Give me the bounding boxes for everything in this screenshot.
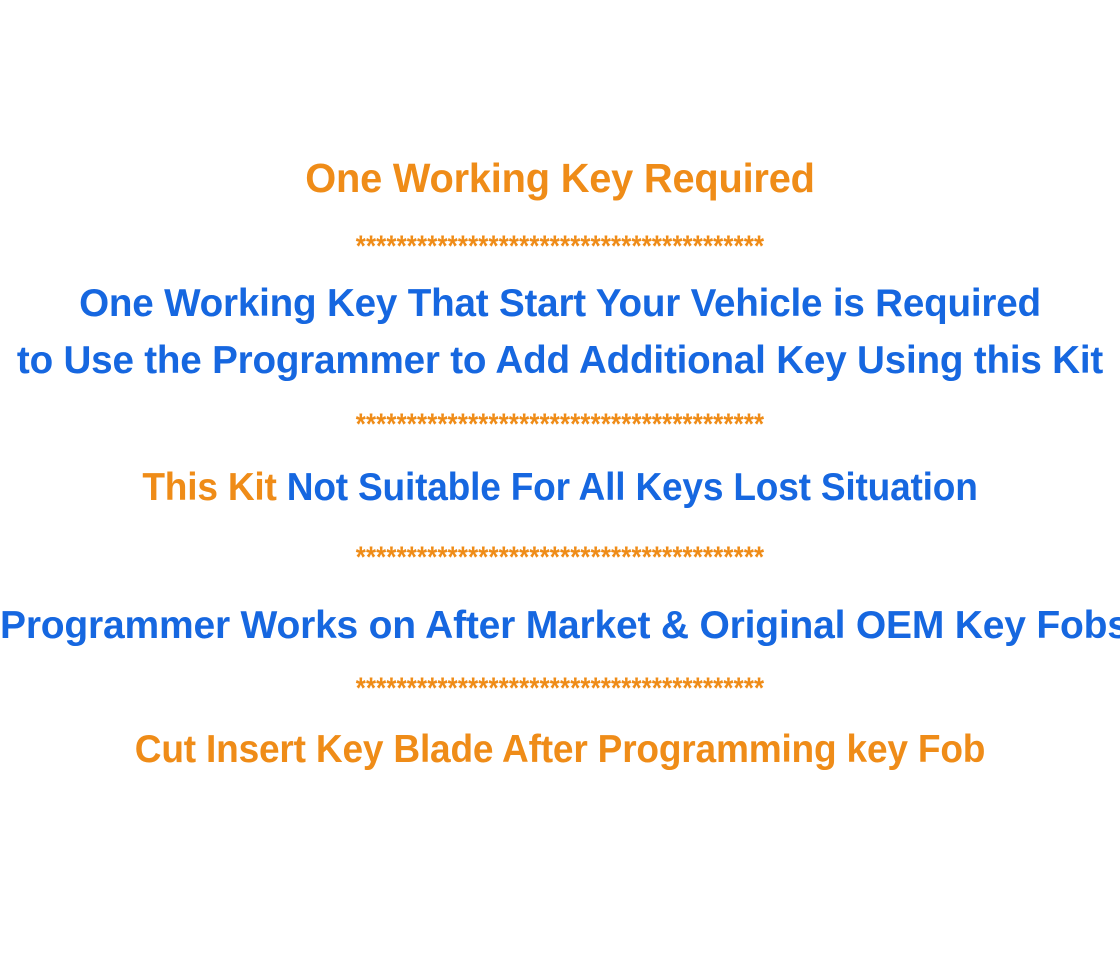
page-title: One Working Key Required [17,154,1103,202]
requirement-line-2: to Use the Programmer to Add Additional … [6,338,1115,384]
compatibility-line: Programmer Works on After Market & Origi… [0,603,1120,649]
separator-asterisks-4: **************************************** [78,674,1041,704]
separator-asterisks-1: **************************************** [78,232,1041,262]
limitation-line: This Kit Not Suitable For All Keys Lost … [28,465,1092,511]
separator-asterisks-2: **************************************** [78,410,1041,440]
key-programming-info-sheet: One Working Key Required ***************… [0,0,1120,956]
limitation-rest: Not Suitable For All Keys Lost Situation [277,466,978,509]
limitation-highlight: This Kit [142,466,276,509]
separator-asterisks-3: **************************************** [78,543,1041,573]
instruction-line: Cut Insert Key Blade After Programming k… [28,727,1092,773]
requirement-line-1: One Working Key That Start Your Vehicle … [6,281,1115,327]
